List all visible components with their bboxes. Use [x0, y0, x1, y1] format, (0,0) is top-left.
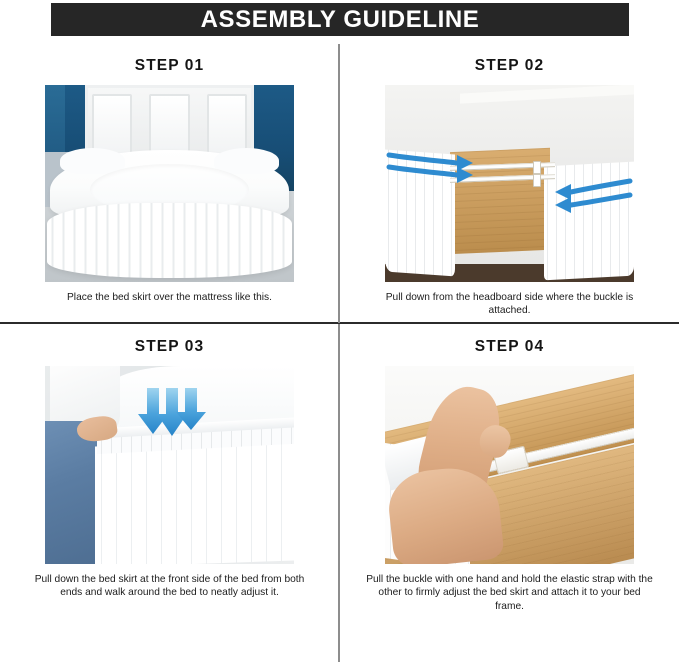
step-caption-03: Pull down the bed skirt at the front sid…: [0, 573, 339, 600]
arrow-left-upper-shaft: [389, 155, 457, 163]
step-caption-02: Pull down from the headboard side where …: [340, 291, 679, 318]
step-card-03: STEP 03: [0, 325, 339, 662]
arrow-right-lower-head: [555, 197, 571, 213]
header-bar: ASSEMBLY GUIDELINE: [51, 3, 629, 36]
arrow-left-lower-shaft: [389, 167, 457, 175]
arrow-right-upper-shaft: [571, 181, 630, 192]
pull-down-skirt-photo: [45, 366, 294, 564]
arrow-left-lower-head: [457, 167, 473, 183]
headboard-buckle-photo: [385, 85, 634, 282]
bed-skirt-ruffle: [47, 203, 291, 278]
attach-buckle-photo: [385, 366, 634, 564]
step-card-01: STEP 01 Place the bed skirt over the mat…: [0, 44, 339, 322]
step-label-03: STEP 03: [0, 338, 339, 356]
page-title: ASSEMBLY GUIDELINE: [201, 8, 480, 32]
pillow-right: [214, 148, 279, 174]
down-arrow-3: [176, 388, 206, 430]
down-arrow-1: [138, 388, 168, 434]
step-caption-01: Place the bed skirt over the mattress li…: [0, 291, 339, 304]
blue-down-arrows-overlay: [45, 366, 294, 564]
arrow-right-upper-head: [555, 184, 571, 200]
step-label-02: STEP 02: [340, 57, 679, 75]
arrow-right-lower-shaft: [571, 195, 630, 205]
step-caption-04: Pull the buckle with one hand and hold t…: [340, 573, 679, 613]
bed-skirt-over-mattress-photo: [45, 85, 294, 282]
step-label-04: STEP 04: [340, 338, 679, 356]
step-card-04: STEP 04 Pull the buckle with one hand an…: [340, 325, 679, 662]
step-label-01: STEP 01: [0, 57, 339, 75]
assembly-guideline-page: ASSEMBLY GUIDELINE STEP 01 Place the bed…: [0, 0, 679, 662]
blue-arrows-overlay: [385, 85, 634, 282]
step-card-02: STEP 02: [340, 44, 679, 322]
